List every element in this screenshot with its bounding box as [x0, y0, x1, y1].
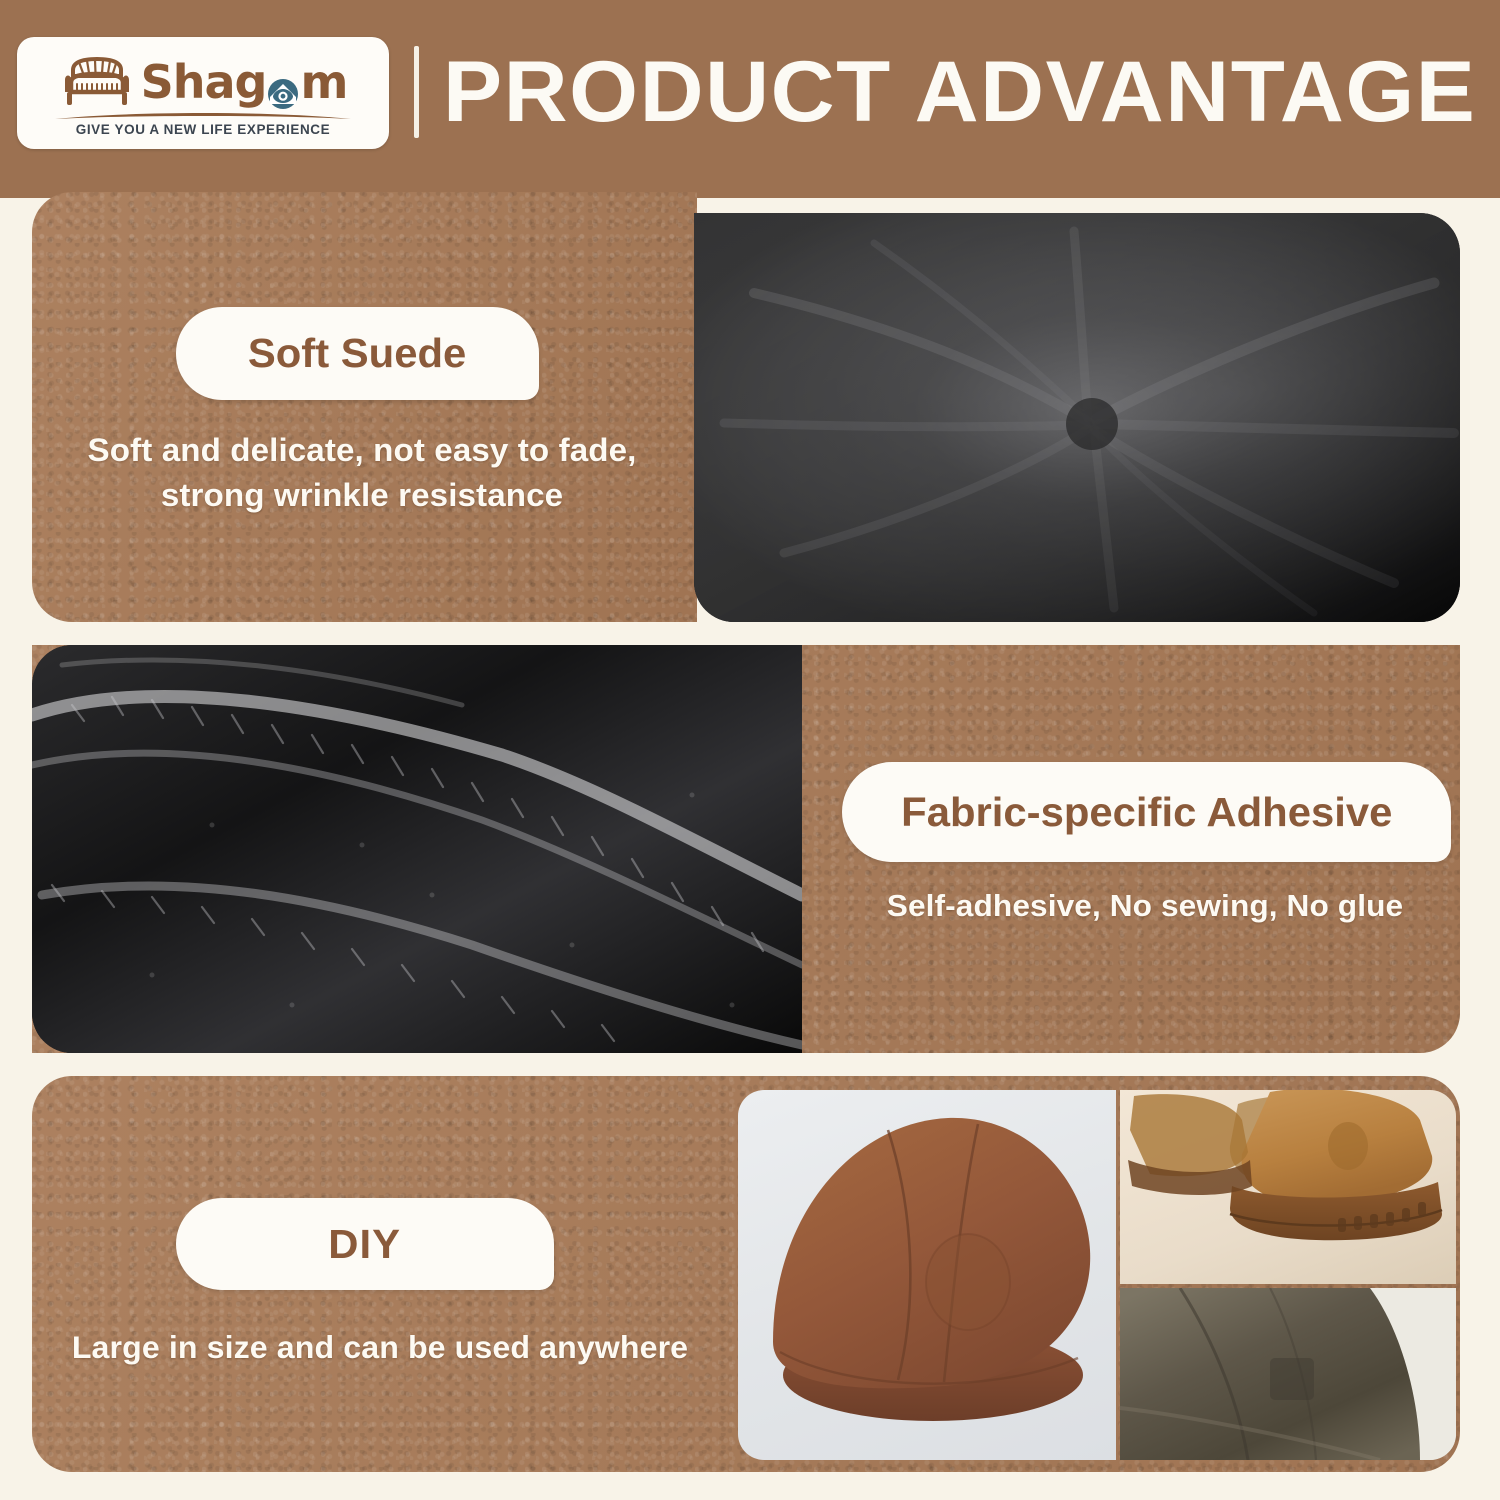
photo-black-suede-fabric [694, 213, 1460, 622]
flat-cap-illustration [738, 1090, 1116, 1460]
brand-tagline: GIVE YOU A NEW LIFE EXPERIENCE [76, 122, 331, 137]
brand-wordmark: Shag m [141, 59, 348, 105]
photo-brown-suede-flat-cap [738, 1090, 1116, 1460]
boot-illustration [1120, 1090, 1456, 1284]
header-divider [414, 46, 419, 138]
logo-row: Shag m [59, 51, 348, 113]
photo-tan-suede-platform-boot [1120, 1090, 1456, 1284]
brand-name-part-1: Shag [141, 59, 267, 105]
feature-description-diy: Large in size and can be used anywhere [43, 1326, 716, 1369]
feature-label-soft-suede: Soft Suede [176, 307, 539, 400]
feature-label-text: DIY [329, 1221, 402, 1268]
garment-illustration [1120, 1288, 1456, 1460]
brand-logo[interactable]: Shag m GIVE YOU A NEW LIFE EXPERIENCE [17, 37, 389, 149]
logo-swoosh-divider [53, 111, 353, 121]
brand-eye-icon [267, 71, 299, 103]
fabric-swirl-shading [694, 213, 1460, 622]
fur-texture-shading [32, 645, 802, 1053]
photo-black-fur-fabric [32, 645, 802, 1053]
brand-name-part-2: m [300, 59, 347, 105]
page-title: PRODUCT ADVANTAGE [443, 40, 1476, 144]
feature-label-text: Fabric-specific Adhesive [901, 789, 1392, 836]
feature-label-adhesive: Fabric-specific Adhesive [842, 762, 1451, 862]
feature-card-soft-suede [32, 192, 697, 622]
sofa-icon [59, 54, 135, 110]
feature-description-adhesive: Self-adhesive, No sewing, No glue [824, 885, 1467, 928]
feature-label-text: Soft Suede [248, 330, 466, 377]
feature-description-soft-suede: Soft and delicate, not easy to fade, str… [46, 428, 678, 518]
page-header: Shag m GIVE YOU A NEW LIFE EXPERIENCE PR… [0, 0, 1500, 198]
photo-olive-suede-garment [1120, 1288, 1456, 1460]
feature-label-diy: DIY [176, 1198, 554, 1290]
